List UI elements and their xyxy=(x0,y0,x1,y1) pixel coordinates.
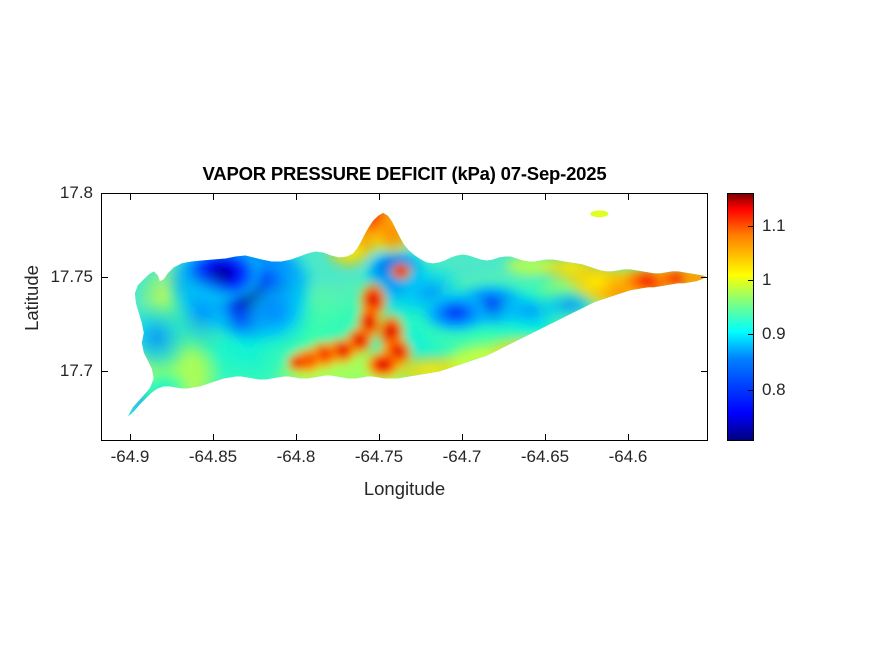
colorbar xyxy=(727,193,754,441)
ytick-mark xyxy=(101,277,108,278)
colorbar-tick xyxy=(748,334,754,335)
xtick-mark xyxy=(379,193,380,200)
xtick-label: -64.8 xyxy=(277,447,316,467)
xtick-label: -64.85 xyxy=(189,447,237,467)
ytick-label-column: 17.8 17.75 17.7 xyxy=(0,0,93,656)
page-title: VAPOR PRESSURE DEFICIT (kPa) 07-Sep-2025 xyxy=(101,163,708,185)
ytick-mark xyxy=(701,193,708,194)
colorbar-tick xyxy=(748,226,754,227)
xtick-label: -64.65 xyxy=(521,447,569,467)
ytick-label: 17.8 xyxy=(60,183,93,203)
xtick-mark xyxy=(545,193,546,200)
xtick-mark xyxy=(379,434,380,441)
xtick-label: -64.75 xyxy=(355,447,403,467)
xtick-mark xyxy=(213,434,214,441)
xtick-mark xyxy=(296,193,297,200)
xtick-mark xyxy=(462,434,463,441)
ytick-mark xyxy=(101,193,108,194)
ytick-mark xyxy=(701,277,708,278)
vpd-heatmap xyxy=(102,194,707,440)
colorbar-label: 0.8 xyxy=(762,380,786,400)
ytick-mark xyxy=(101,371,108,372)
y-axis-label: Latitude xyxy=(21,238,43,358)
ytick-label: 17.7 xyxy=(60,361,93,381)
ytick-mark xyxy=(701,371,708,372)
x-axis-label: Longitude xyxy=(101,478,708,500)
xtick-mark xyxy=(628,193,629,200)
xtick-label: -64.9 xyxy=(111,447,150,467)
map-axes xyxy=(101,193,708,441)
offshore-cay-marker xyxy=(586,208,614,222)
xtick-mark xyxy=(296,434,297,441)
colorbar-tick xyxy=(748,390,754,391)
xtick-mark xyxy=(130,434,131,441)
colorbar-label: 0.9 xyxy=(762,324,786,344)
colorbar-label: 1.1 xyxy=(762,216,786,236)
figure-canvas: VAPOR PRESSURE DEFICIT (kPa) 07-Sep-2025 xyxy=(0,0,875,656)
xtick-mark xyxy=(130,193,131,200)
xtick-mark xyxy=(462,193,463,200)
xtick-mark xyxy=(213,193,214,200)
xtick-label: -64.6 xyxy=(609,447,648,467)
xtick-label: -64.7 xyxy=(443,447,482,467)
ytick-label: 17.75 xyxy=(50,267,93,287)
xtick-mark xyxy=(628,434,629,441)
colorbar-tick xyxy=(748,280,754,281)
island-vpd-field xyxy=(102,194,707,440)
xtick-mark xyxy=(545,434,546,441)
colorbar-label: 1 xyxy=(762,270,771,290)
